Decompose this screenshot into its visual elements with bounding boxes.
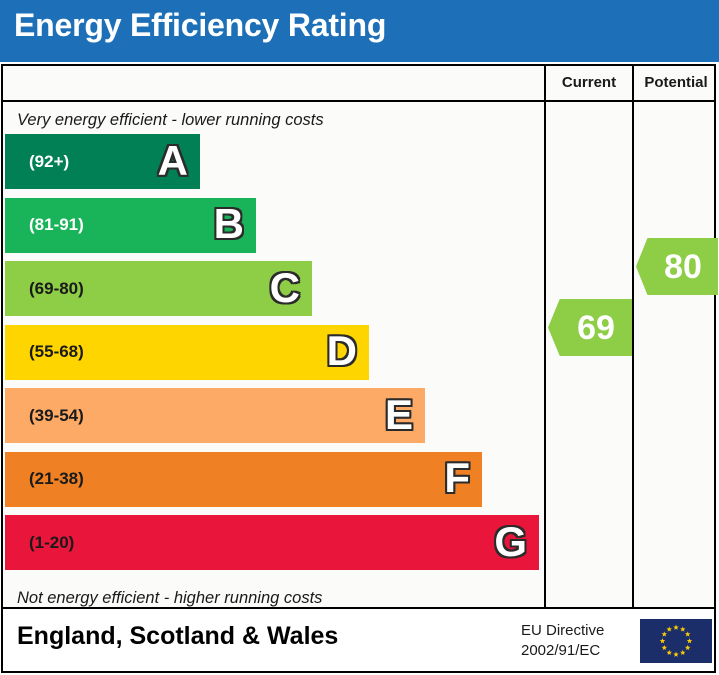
band-letter: C — [270, 267, 300, 309]
rating-band-g: (1-20)G — [5, 515, 539, 570]
potential-rating-value: 80 — [652, 250, 702, 284]
band-range-label: (39-54) — [29, 406, 84, 426]
eu-flag-icon — [640, 619, 712, 663]
band-letter: D — [327, 330, 357, 372]
rating-table: Current Potential Very energy efficient … — [1, 64, 716, 609]
potential-rating-marker: 80 — [636, 238, 718, 295]
current-rating-marker: 69 — [548, 299, 632, 356]
band-letter: G — [494, 521, 527, 563]
current-rating-value: 69 — [565, 311, 615, 345]
chart-footer: England, Scotland & Wales EU Directive 2… — [1, 609, 716, 673]
footer-region-label: England, Scotland & Wales — [17, 622, 338, 651]
chart-title-bar: Energy Efficiency Rating — [0, 0, 719, 62]
directive-line-2: 2002/91/EC — [521, 641, 604, 661]
footer-directive-label: EU Directive 2002/91/EC — [521, 621, 604, 662]
band-range-label: (92+) — [29, 152, 69, 172]
band-range-label: (69-80) — [29, 279, 84, 299]
page-title: Energy Efficiency Rating — [14, 7, 386, 44]
band-range-label: (55-68) — [29, 342, 84, 362]
column-divider-current — [544, 66, 546, 607]
rating-band-e: (39-54)E — [5, 388, 425, 443]
rating-band-d: (55-68)D — [5, 325, 369, 380]
column-header-potential: Potential — [634, 74, 718, 91]
eu-flag-stars — [640, 619, 712, 663]
band-letter: F — [444, 457, 470, 499]
band-range-label: (81-91) — [29, 215, 84, 235]
energy-efficiency-rating-chart: Energy Efficiency Rating Current Potenti… — [0, 0, 719, 675]
band-range-label: (1-20) — [29, 533, 74, 553]
band-letter: E — [385, 394, 413, 436]
rating-band-b: (81-91)B — [5, 198, 256, 253]
band-range-label: (21-38) — [29, 469, 84, 489]
band-letter: B — [214, 203, 244, 245]
column-divider-potential — [632, 66, 634, 607]
column-header-current: Current — [546, 74, 632, 91]
rating-band-c: (69-80)C — [5, 261, 312, 316]
directive-line-1: EU Directive — [521, 621, 604, 641]
rating-band-a: (92+)A — [5, 134, 200, 189]
caption-efficient: Very energy efficient - lower running co… — [17, 111, 324, 130]
caption-inefficient: Not energy efficient - higher running co… — [17, 589, 322, 608]
rating-band-f: (21-38)F — [5, 452, 482, 507]
band-letter: A — [158, 140, 188, 182]
